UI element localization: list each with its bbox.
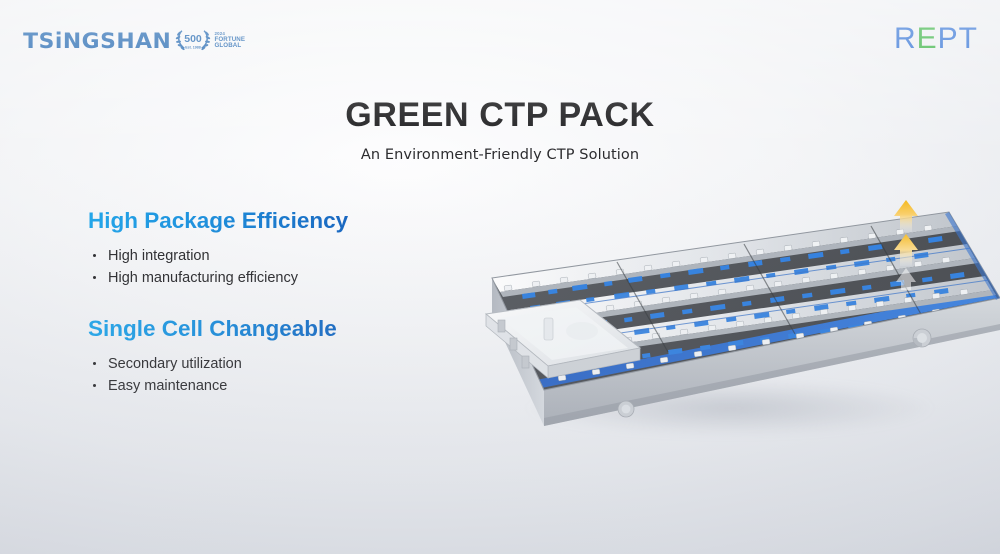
rept-logo: REPT	[894, 24, 978, 54]
bullet-text: High manufacturing efficiency	[108, 270, 298, 286]
slide-canvas: TSiNGSHAN	[0, 0, 1000, 554]
fortune-global-text: 2024 FORTUNE GLOBAL	[215, 32, 246, 50]
rept-letters-pt: PT	[938, 22, 978, 55]
fortune-line-2: GLOBAL	[215, 43, 242, 50]
fortune-global-500-badge: 500 Est. 1988 2024 FORTUNE GLOBAL	[174, 26, 246, 56]
feature-block-single-cell-changeable: Single Cell Changeable Secondary utiliza…	[88, 315, 418, 397]
feature-list: High Package Efficiency High integration…	[88, 207, 418, 423]
tsingshan-wordmark: TSiNGSHAN	[23, 31, 171, 52]
page-subtitle: An Environment-Friendly CTP Solution	[0, 147, 1000, 163]
mounting-boss	[618, 401, 634, 417]
list-item: Secondary utilization	[88, 353, 418, 375]
mounting-boss	[913, 329, 931, 347]
title-block: GREEN CTP PACK An Environment-Friendly C…	[0, 96, 1000, 163]
feature-heading: Single Cell Changeable	[88, 315, 418, 342]
list-item: High manufacturing efficiency	[88, 267, 418, 289]
triple-up-arrow-icon	[883, 198, 929, 290]
feature-bullets: High integration High manufacturing effi…	[88, 245, 418, 289]
bullet-text: Secondary utilization	[108, 356, 242, 372]
list-item: Easy maintenance	[88, 375, 418, 397]
svg-text:500: 500	[184, 33, 202, 45]
svg-text:Est. 1988: Est. 1988	[185, 46, 201, 50]
rept-letter-r: R	[894, 22, 917, 55]
bullet-dot-icon	[93, 384, 96, 387]
bullet-dot-icon	[93, 362, 96, 365]
feature-bullets: Secondary utilization Easy maintenance	[88, 353, 418, 397]
bullet-text: Easy maintenance	[108, 378, 227, 394]
bullet-text: High integration	[108, 248, 210, 264]
bullet-dot-icon	[93, 254, 96, 257]
bullet-dot-icon	[93, 276, 96, 279]
feature-heading: High Package Efficiency	[88, 207, 418, 234]
page-title: GREEN CTP PACK	[0, 96, 1000, 135]
tsingshan-logo: TSiNGSHAN	[26, 26, 245, 56]
feature-block-package-efficiency: High Package Efficiency High integration…	[88, 207, 418, 289]
list-item: High integration	[88, 245, 418, 267]
rept-letter-e: E	[917, 22, 938, 55]
laurel-wreath-icon: 500 Est. 1988	[174, 26, 212, 56]
